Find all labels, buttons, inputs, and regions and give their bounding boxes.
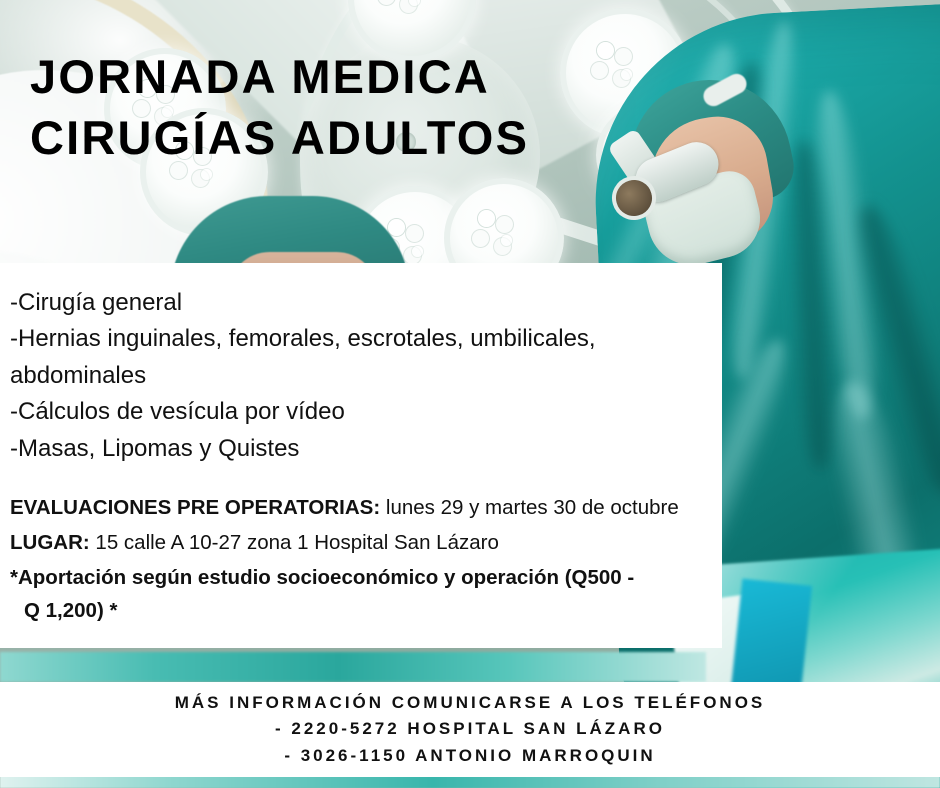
- poster: JORNADA MEDICA CIRUGÍAS ADULTOS -Cirugía…: [0, 0, 940, 788]
- poster-title: JORNADA MEDICA CIRUGÍAS ADULTOS: [30, 46, 529, 168]
- service-item-continuation: abdominales: [10, 358, 704, 394]
- footer-line-info: MÁS INFORMACIÓN COMUNICARSE A LOS TELÉFO…: [175, 691, 766, 716]
- location-label: LUGAR:: [10, 531, 90, 554]
- service-item: -Hernias inguinales, femorales, escrotal…: [10, 321, 704, 357]
- title-line-1: JORNADA MEDICA: [30, 46, 529, 107]
- photo-bottom-strip: [0, 776, 940, 788]
- service-item: -Masas, Lipomas y Quistes: [10, 431, 704, 467]
- location-row: LUGAR: 15 calle A 10-27 zona 1 Hospital …: [10, 526, 704, 561]
- event-details: EVALUACIONES PRE OPERATORIAS: lunes 29 y…: [10, 491, 704, 627]
- contact-footer: MÁS INFORMACIÓN COMUNICARSE A LOS TELÉFO…: [0, 682, 940, 777]
- evaluations-value: lunes 29 y martes 30 de octubre: [380, 496, 679, 519]
- content-panel: -Cirugía general -Hernias inguinales, fe…: [0, 263, 722, 648]
- services-list: -Cirugía general -Hernias inguinales, fe…: [10, 285, 704, 467]
- service-item: -Cirugía general: [10, 285, 704, 321]
- footer-line-phone-hospital: - 2220-5272 HOSPITAL SAN LÁZARO: [275, 717, 665, 742]
- footer-line-phone-contact: - 3026-1150 ANTONIO MARROQUIN: [284, 744, 655, 769]
- price-note-line-1: *Aportación según estudio socioeconómico…: [10, 561, 704, 594]
- service-item: -Cálculos de vesícula por vídeo: [10, 394, 704, 430]
- photo-teal-band: [0, 652, 706, 682]
- evaluations-row: EVALUACIONES PRE OPERATORIAS: lunes 29 y…: [10, 491, 704, 526]
- location-value: 15 calle A 10-27 zona 1 Hospital San Láz…: [90, 531, 499, 554]
- price-note-line-2: Q 1,200) *: [10, 594, 704, 627]
- title-line-2: CIRUGÍAS ADULTOS: [30, 107, 529, 168]
- evaluations-label: EVALUACIONES PRE OPERATORIAS:: [10, 496, 380, 519]
